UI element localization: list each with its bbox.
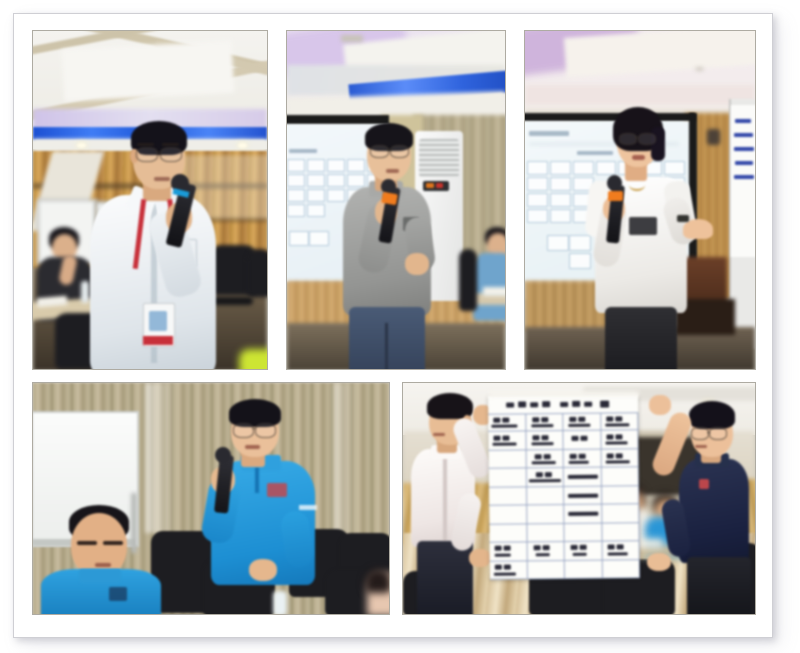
slide-cell — [527, 209, 548, 223]
mouth — [154, 177, 170, 181]
presenter-left-hand-down — [469, 549, 491, 567]
poster-cell — [490, 542, 528, 561]
microphone-head — [607, 175, 622, 191]
microphone-orange-band — [381, 192, 398, 205]
slide-cell — [573, 161, 594, 175]
glasses-icon — [370, 145, 389, 158]
hw-mark — [531, 443, 553, 446]
poster-title-handwriting — [572, 401, 580, 407]
hw-mark — [542, 545, 549, 550]
poster-title-handwriting — [518, 401, 526, 407]
poster-cell — [602, 523, 640, 542]
slide-cell — [569, 253, 591, 269]
poster-cell — [564, 523, 602, 542]
slide-cell — [347, 159, 365, 172]
ac-vent-grille — [419, 139, 459, 177]
hw-mark — [580, 545, 587, 550]
flipchart-handwriting — [734, 133, 753, 137]
photo-2-scene — [287, 31, 505, 369]
photo-4-scene — [33, 383, 389, 614]
hw-mark — [579, 454, 586, 459]
hw-mark — [528, 479, 560, 482]
poster-cell — [526, 487, 564, 506]
hw-mark — [616, 544, 623, 549]
slide-cell — [287, 174, 305, 187]
glasses-icon — [709, 427, 727, 440]
photo-top-center[interactable] — [286, 30, 506, 370]
glasses-icon — [691, 427, 709, 440]
curtain-highlight — [145, 383, 175, 533]
ceiling-vent — [341, 35, 363, 42]
slide-cell — [289, 231, 309, 246]
water-bottle — [273, 591, 287, 615]
eyebrow — [137, 143, 154, 146]
mouth — [386, 169, 399, 173]
hw-mark — [493, 436, 500, 441]
presenter-open-hand — [683, 219, 713, 239]
colleague-polo-logo — [109, 587, 127, 601]
poster-cell — [526, 468, 564, 487]
collage-stage — [0, 0, 800, 653]
presenter-right-trousers — [687, 557, 751, 615]
hw-mark — [568, 475, 598, 479]
hw-mark — [541, 417, 548, 422]
hw-mark — [615, 416, 622, 421]
slide-cell — [307, 189, 325, 202]
slide-cell — [307, 204, 325, 217]
slide-cell — [527, 177, 548, 191]
glasses-bridge — [156, 152, 161, 153]
flipchart-handwriting — [734, 147, 754, 151]
hw-mark — [605, 460, 629, 463]
hw-mark — [580, 436, 587, 441]
microphone-head — [215, 447, 231, 463]
hw-mark — [531, 461, 555, 464]
photo-bottom-right[interactable] — [402, 382, 756, 615]
hw-mark — [494, 572, 516, 575]
office-chair — [247, 249, 268, 297]
hw-mark — [606, 435, 613, 440]
colleague-eyebrow — [77, 541, 97, 545]
colleague-head — [71, 513, 127, 577]
slide-cell — [527, 161, 548, 175]
poster-cell — [564, 468, 602, 487]
ceiling-panel — [62, 41, 234, 102]
hw-mark — [606, 416, 613, 421]
slide-cell — [569, 235, 591, 251]
whiteboard-stand-leg — [131, 493, 137, 553]
presenter-right-hand-down — [647, 553, 671, 571]
photo-card — [13, 13, 773, 638]
photo-bottom-left[interactable] — [32, 382, 390, 615]
hw-mark — [606, 453, 613, 458]
hw-mark — [570, 454, 577, 459]
hw-mark — [532, 417, 539, 422]
slide-cell — [327, 189, 345, 202]
flipchart-poster — [488, 394, 640, 580]
hw-mark — [569, 417, 576, 422]
poster-title-handwriting — [542, 401, 550, 407]
hw-mark — [534, 454, 541, 459]
poster-cell — [563, 431, 601, 450]
slide-cell — [309, 231, 329, 246]
mouth — [245, 445, 260, 449]
hw-mark — [504, 564, 511, 569]
mouth — [433, 433, 445, 436]
poster-cell — [527, 561, 565, 580]
hw-mark — [605, 423, 629, 426]
glasses-bridge — [387, 149, 391, 150]
poster-cell — [564, 449, 602, 468]
polo-logo — [699, 479, 709, 489]
hw-mark — [533, 545, 540, 550]
hw-mark — [495, 546, 502, 551]
slide-subtitle — [577, 151, 613, 155]
photo-1-scene — [33, 31, 267, 369]
poster-cell — [564, 505, 602, 524]
attendee-hair — [365, 569, 390, 593]
hw-mark — [491, 424, 517, 427]
glasses-icon — [255, 423, 276, 438]
hw-mark — [493, 418, 500, 423]
poster-cell — [489, 524, 527, 543]
hw-mark — [502, 418, 509, 423]
poster-cell — [526, 431, 564, 450]
hw-mark — [495, 564, 502, 569]
shirt-placket — [443, 457, 447, 541]
glasses-icon — [390, 145, 409, 158]
polo-logo — [267, 483, 287, 497]
flipchart-handwriting — [734, 175, 754, 179]
flipchart-handwriting — [735, 119, 751, 123]
poster-cell — [489, 469, 527, 488]
glasses-bridge — [252, 428, 256, 429]
glasses-icon — [160, 147, 182, 162]
slide-cell — [347, 174, 365, 187]
hw-mark — [615, 435, 622, 440]
necklace — [629, 179, 645, 191]
poster-cell — [601, 412, 639, 431]
microphone-orange-band — [608, 191, 623, 201]
office-chair — [459, 249, 477, 311]
hw-mark — [495, 554, 511, 557]
slide-cell — [596, 161, 617, 175]
photo-5-scene — [403, 383, 755, 614]
poster-title-handwriting — [584, 402, 592, 407]
mouth — [695, 445, 707, 448]
ceiling-band — [525, 85, 755, 105]
speaker-hand — [249, 559, 277, 581]
slide-cell — [287, 159, 305, 172]
hw-mark — [541, 436, 548, 441]
slide-cell — [307, 159, 325, 172]
slide-cell — [550, 193, 571, 207]
hw-mark — [568, 424, 590, 427]
poster-cell — [563, 413, 601, 432]
poster-cell — [602, 560, 640, 579]
poster-cell — [526, 413, 564, 432]
poster-cell — [489, 506, 527, 525]
ac-indicator — [436, 183, 443, 188]
slide-cell — [327, 174, 345, 187]
slide-cell — [527, 193, 548, 207]
glasses-icon — [619, 133, 637, 145]
poster-cell — [527, 542, 565, 561]
colleague-mouth — [95, 563, 111, 567]
poster-cell — [527, 524, 565, 543]
poster-title-handwriting — [530, 402, 538, 407]
poster-title-handwriting — [560, 402, 568, 407]
hw-mark — [502, 436, 509, 441]
hw-mark — [504, 546, 511, 551]
poster-grid — [488, 412, 640, 580]
hw-mark — [535, 553, 549, 556]
photo-3-scene — [525, 31, 755, 369]
poster-top-edge — [489, 391, 639, 397]
hw-mark — [493, 443, 517, 446]
photo-top-right[interactable] — [524, 30, 756, 370]
id-badge-stripe — [143, 336, 173, 345]
poster-title-handwriting — [600, 401, 609, 408]
slide-cell — [287, 189, 305, 202]
hw-mark — [615, 453, 622, 458]
hw-mark — [531, 424, 553, 427]
hw-mark — [568, 493, 598, 497]
slide-cell — [287, 204, 305, 217]
hw-mark — [543, 454, 550, 459]
presenter-left-trousers — [417, 541, 473, 615]
downlight — [238, 143, 247, 148]
hw-mark — [607, 552, 627, 555]
presenter-trousers — [605, 307, 677, 370]
flipchart-handwriting — [735, 161, 753, 165]
glasses-bridge — [635, 137, 639, 138]
hw-mark — [571, 545, 578, 550]
hw-mark — [605, 442, 627, 445]
green-bag — [239, 349, 268, 370]
hw-mark — [535, 473, 542, 478]
hw-mark — [573, 553, 587, 556]
paper-document — [483, 287, 506, 296]
glasses-icon — [136, 147, 158, 162]
colleague-eyebrow — [103, 541, 123, 545]
tshirt-print — [629, 217, 657, 235]
jeans-seam — [385, 323, 388, 370]
poster-cell — [601, 486, 639, 505]
hw-mark — [532, 436, 539, 441]
slide-cell — [547, 235, 569, 251]
hw-mark — [607, 545, 614, 550]
poster-cell — [602, 541, 640, 560]
slide-title-line — [289, 149, 317, 153]
poster-cell — [527, 505, 565, 524]
hw-mark — [544, 472, 551, 477]
presenter-right-hair — [689, 401, 735, 429]
hw-mark — [578, 417, 585, 422]
presenter-right-hand-up — [649, 395, 671, 415]
id-badge-photo — [149, 311, 167, 331]
poster-cell — [602, 504, 640, 523]
poster-cell — [490, 561, 528, 580]
slide-cell — [307, 174, 325, 187]
poster-cell — [489, 450, 527, 469]
colleague-collar — [79, 569, 121, 583]
slide-cell — [327, 159, 345, 172]
poster-title-handwriting — [506, 403, 514, 408]
polo-placket — [255, 467, 259, 493]
wall-speaker — [707, 129, 720, 145]
slide-cell — [550, 161, 571, 175]
glasses-icon — [233, 423, 254, 438]
slide-title-line — [529, 131, 569, 136]
glasses-icon — [638, 133, 656, 145]
poster-cell — [601, 468, 639, 487]
speaker-hand — [405, 253, 429, 275]
hw-mark — [571, 436, 578, 441]
photo-top-left[interactable] — [32, 30, 268, 370]
poster-cell — [601, 431, 639, 450]
poster-cell — [526, 450, 564, 469]
poster-cell — [564, 486, 602, 505]
hw-mark — [568, 512, 598, 516]
hw-mark — [569, 461, 589, 464]
poster-cell — [489, 487, 527, 506]
ceiling-smoke-detector — [695, 67, 704, 71]
wristwatch — [677, 215, 689, 222]
ac-indicator — [426, 183, 434, 188]
polo-sleeve-stripe — [299, 505, 317, 510]
poster-cell — [488, 432, 526, 451]
water-bottle — [81, 281, 89, 303]
poster-cell — [565, 560, 603, 579]
poster-cell — [565, 542, 603, 561]
slide-cell — [550, 209, 571, 223]
mouth — [632, 155, 645, 160]
slide-cell — [550, 177, 571, 191]
poster-cell — [488, 413, 526, 432]
glasses-bridge — [707, 432, 710, 433]
downlight — [77, 143, 86, 148]
eyebrow — [162, 143, 179, 146]
poster-cell — [601, 449, 639, 468]
flipchart-paper — [731, 105, 756, 257]
slide-cell — [664, 161, 685, 175]
